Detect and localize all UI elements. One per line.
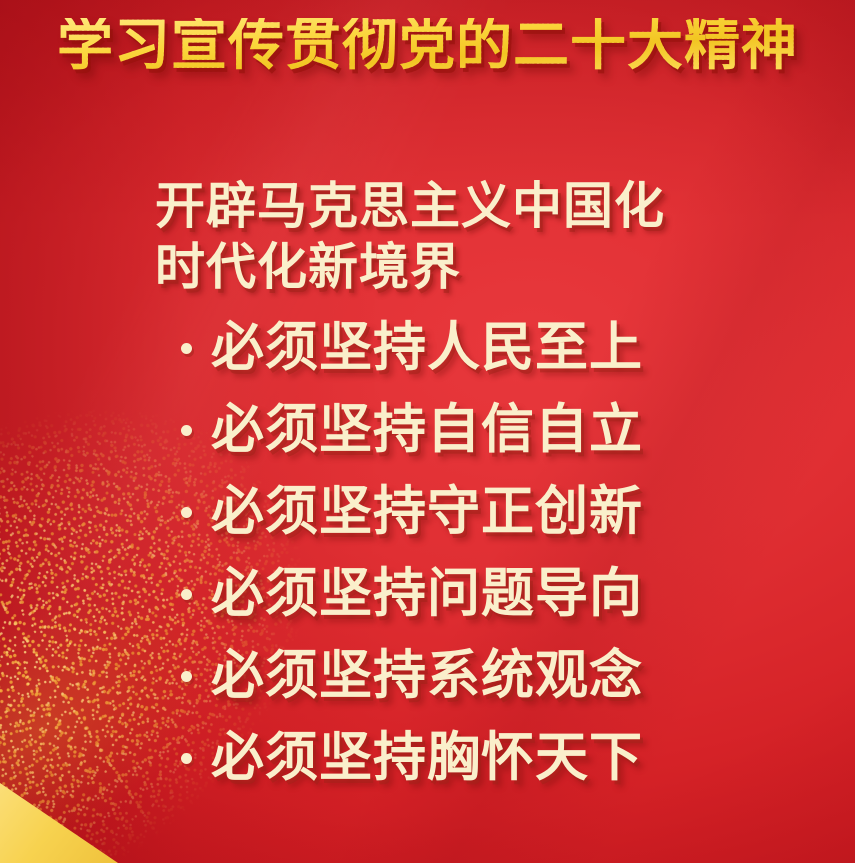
poster-root: 学习宣传贯彻党的二十大精神 开辟马克思主义中国化 时代化新境界 必须坚持人民至上… bbox=[0, 0, 855, 863]
list-item-label: 必须坚持人民至上 bbox=[211, 322, 643, 375]
bullet-dot-icon bbox=[181, 507, 192, 518]
list-item-label: 必须坚持自信自立 bbox=[211, 404, 643, 457]
bullet-dot-icon bbox=[181, 753, 192, 764]
list-item-label: 必须坚持胸怀天下 bbox=[211, 732, 643, 785]
list-item-label: 必须坚持问题导向 bbox=[211, 568, 643, 621]
bullet-dot-icon bbox=[181, 589, 192, 600]
content-block: 开辟马克思主义中国化 时代化新境界 必须坚持人民至上 必须坚持自信自立 必须坚持… bbox=[155, 176, 775, 799]
poster-title: 学习宣传贯彻党的二十大精神 bbox=[57, 18, 798, 74]
list-item-label: 必须坚持系统观念 bbox=[211, 650, 643, 703]
heading-line-1: 开辟马克思主义中国化 bbox=[155, 176, 775, 237]
list-item: 必须坚持问题导向 bbox=[155, 553, 775, 635]
bullet-dot-icon bbox=[181, 425, 192, 436]
list-item: 必须坚持人民至上 bbox=[155, 307, 775, 389]
principles-list: 必须坚持人民至上 必须坚持自信自立 必须坚持守正创新 必须坚持问题导向 必须坚持… bbox=[155, 307, 775, 799]
list-item: 必须坚持守正创新 bbox=[155, 471, 775, 553]
bullet-dot-icon bbox=[181, 671, 192, 682]
heading-line-2: 时代化新境界 bbox=[155, 237, 775, 298]
list-item-label: 必须坚持守正创新 bbox=[211, 486, 643, 539]
list-item: 必须坚持系统观念 bbox=[155, 635, 775, 717]
title-banner: 学习宣传贯彻党的二十大精神 bbox=[0, 0, 855, 92]
list-item: 必须坚持自信自立 bbox=[155, 389, 775, 471]
bullet-dot-icon bbox=[181, 343, 192, 354]
list-item: 必须坚持胸怀天下 bbox=[155, 717, 775, 799]
